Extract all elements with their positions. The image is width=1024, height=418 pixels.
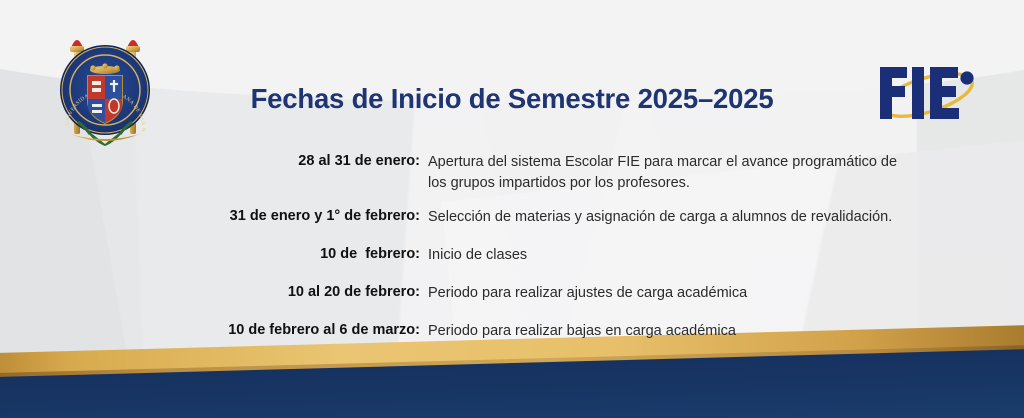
schedule-row-description: Periodo para realizar bajas en carga aca… [428, 321, 898, 342]
page-title: Fechas de Inicio de Semestre 2025–2025 [0, 83, 1024, 115]
schedule-row: 31 de enero y 1° de febrero: Selección d… [0, 207, 1024, 228]
schedule-row-description: Inicio de clases [428, 245, 898, 266]
schedule-row-description: Periodo para realizar ajustes de carga a… [428, 283, 898, 304]
schedule-row: 10 de febrero: Inicio de clases [0, 245, 1024, 266]
semester-dates-banner: UNIVERSIDAD MICHOACANA DE SAN NICOLAS DE… [0, 0, 1024, 418]
schedule-row-date: 10 al 20 de febrero: [0, 283, 428, 302]
schedule-row: 10 al 20 de febrero: Periodo para realiz… [0, 283, 1024, 304]
schedule-row-date: 10 de febrero al 6 de marzo: [0, 321, 428, 340]
schedule-row-date: 28 al 31 de enero: [0, 152, 428, 171]
schedule-row: 10 de febrero al 6 de marzo: Periodo par… [0, 321, 1024, 342]
schedule-row-description: Selección de materias y asignación de ca… [428, 207, 898, 228]
schedule-row-date: 10 de febrero: [0, 245, 428, 264]
schedule-list: 28 al 31 de enero: Apertura del sistema … [0, 152, 1024, 351]
schedule-row-description: Apertura del sistema Escolar FIE para ma… [428, 152, 898, 194]
schedule-row: 28 al 31 de enero: Apertura del sistema … [0, 152, 1024, 194]
schedule-row-date: 31 de enero y 1° de febrero: [0, 207, 428, 226]
